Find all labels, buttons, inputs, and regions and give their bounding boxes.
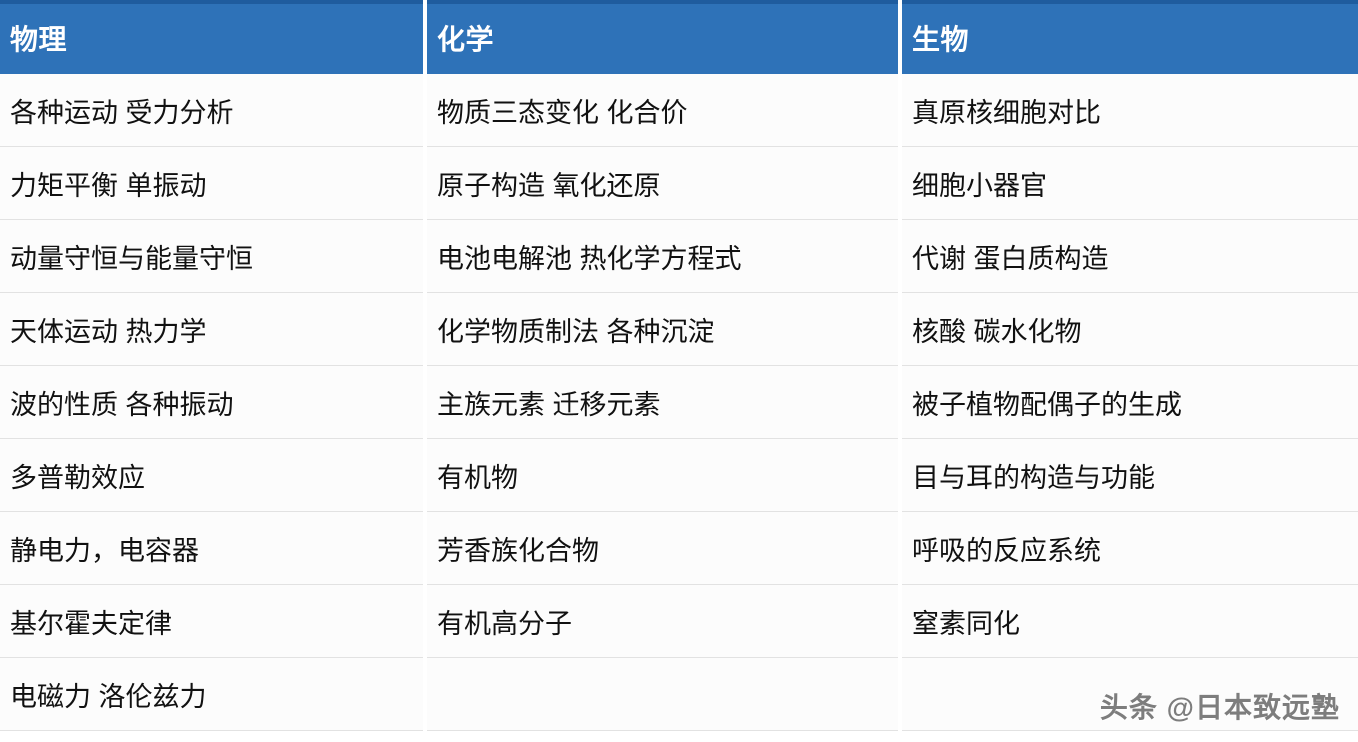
cell-chemistry: 芳香族化合物 [427,512,898,585]
table-row: 电磁力 洛伦兹力 [0,658,1358,731]
column-header-chemistry: 化学 [427,0,898,74]
cell-biology: 被子植物配偶子的生成 [902,366,1358,439]
subject-table-container: 物理 化学 生物 各种运动 受力分析 物质三态变化 化合价 真原核细胞对比 力矩… [0,0,1358,742]
cell-biology [902,658,1358,731]
cell-physics: 电磁力 洛伦兹力 [0,658,423,731]
cell-chemistry: 化学物质制法 各种沉淀 [427,293,898,366]
cell-biology: 呼吸的反应系统 [902,512,1358,585]
cell-chemistry: 物质三态变化 化合价 [427,74,898,147]
table-row: 天体运动 热力学 化学物质制法 各种沉淀 核酸 碳水化物 [0,293,1358,366]
table-row: 动量守恒与能量守恒 电池电解池 热化学方程式 代谢 蛋白质构造 [0,220,1358,293]
cell-chemistry: 主族元素 迁移元素 [427,366,898,439]
cell-chemistry: 有机物 [427,439,898,512]
cell-biology: 细胞小器官 [902,147,1358,220]
table-header: 物理 化学 生物 [0,0,1358,74]
cell-physics: 波的性质 各种振动 [0,366,423,439]
subject-topics-table: 物理 化学 生物 各种运动 受力分析 物质三态变化 化合价 真原核细胞对比 力矩… [0,0,1358,731]
cell-biology: 代谢 蛋白质构造 [902,220,1358,293]
cell-biology: 真原核细胞对比 [902,74,1358,147]
table-row: 静电力，电容器 芳香族化合物 呼吸的反应系统 [0,512,1358,585]
table-row: 基尔霍夫定律 有机高分子 窒素同化 [0,585,1358,658]
cell-physics: 多普勒效应 [0,439,423,512]
cell-chemistry [427,658,898,731]
table-body: 各种运动 受力分析 物质三态变化 化合价 真原核细胞对比 力矩平衡 单振动 原子… [0,74,1358,731]
column-header-biology: 生物 [902,0,1358,74]
cell-biology: 目与耳的构造与功能 [902,439,1358,512]
cell-chemistry: 电池电解池 热化学方程式 [427,220,898,293]
cell-chemistry: 有机高分子 [427,585,898,658]
table-row: 各种运动 受力分析 物质三态变化 化合价 真原核细胞对比 [0,74,1358,147]
cell-physics: 各种运动 受力分析 [0,74,423,147]
cell-biology: 核酸 碳水化物 [902,293,1358,366]
table-row: 力矩平衡 单振动 原子构造 氧化还原 细胞小器官 [0,147,1358,220]
cell-physics: 动量守恒与能量守恒 [0,220,423,293]
cell-chemistry: 原子构造 氧化还原 [427,147,898,220]
table-header-row: 物理 化学 生物 [0,0,1358,74]
cell-physics: 天体运动 热力学 [0,293,423,366]
cell-physics: 力矩平衡 单振动 [0,147,423,220]
cell-biology: 窒素同化 [902,585,1358,658]
cell-physics: 静电力，电容器 [0,512,423,585]
table-row: 波的性质 各种振动 主族元素 迁移元素 被子植物配偶子的生成 [0,366,1358,439]
column-header-physics: 物理 [0,0,423,74]
cell-physics: 基尔霍夫定律 [0,585,423,658]
table-row: 多普勒效应 有机物 目与耳的构造与功能 [0,439,1358,512]
